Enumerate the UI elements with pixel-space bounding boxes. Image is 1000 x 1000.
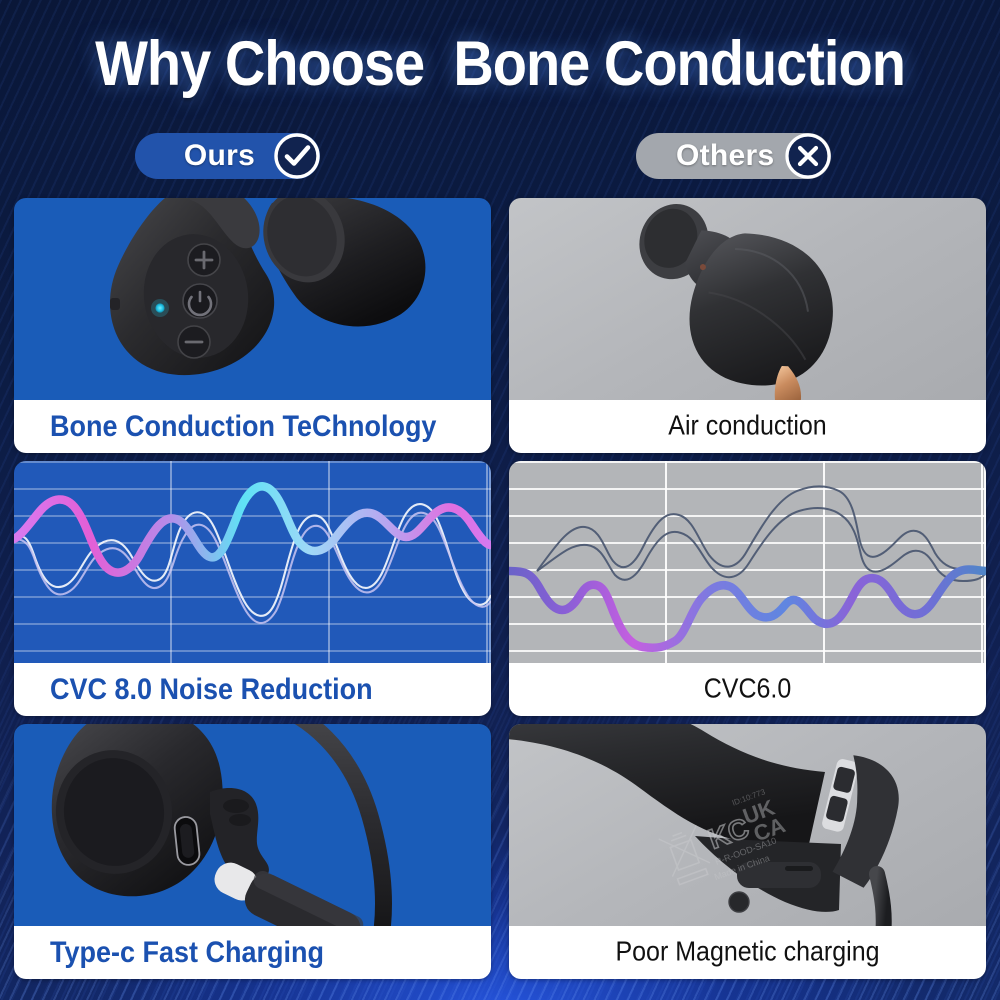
wireless-earbud-image xyxy=(509,198,986,400)
card-others-air-conduction[interactable]: Air conduction xyxy=(509,198,986,453)
comparison-row-2: CVC 8.0 Noise Reduction xyxy=(14,461,986,716)
caption-text: Bone Conduction TeChnology xyxy=(50,409,436,443)
comparison-row-1: Bone Conduction TeChnology xyxy=(14,198,986,453)
column-badge-ours: Ours xyxy=(135,133,320,179)
noisy-waveform-chart xyxy=(509,461,986,663)
check-circle-icon xyxy=(270,129,324,183)
caption-text: Poor Magnetic charging xyxy=(615,937,879,969)
card-others-magnetic-charging[interactable]: KC UK CA R-R-OOD-SA10 Made in China ID:1… xyxy=(509,724,986,979)
badge-label-others: Others xyxy=(676,139,775,173)
page-title: Why Choose Bone Conduction xyxy=(0,27,1000,100)
usb-c-charging-image xyxy=(14,724,491,926)
clean-waveform-chart xyxy=(14,461,491,663)
card-ours-type-c-charging[interactable]: Type-c Fast Charging xyxy=(14,724,491,979)
card-caption: Air conduction xyxy=(509,400,986,453)
card-caption: CVC6.0 xyxy=(509,663,986,716)
caption-text: Type-c Fast Charging xyxy=(50,935,324,969)
card-ours-noise-reduction[interactable]: CVC 8.0 Noise Reduction xyxy=(14,461,491,716)
card-caption: Bone Conduction TeChnology xyxy=(14,400,491,453)
column-badge-others: Others xyxy=(636,133,831,179)
caption-text: CVC 8.0 Noise Reduction xyxy=(50,672,373,706)
card-others-cvc6[interactable]: CVC6.0 xyxy=(509,461,986,716)
caption-text: Air conduction xyxy=(668,411,826,443)
waveform-lines xyxy=(14,461,491,663)
comparison-grid: Bone Conduction TeChnology xyxy=(14,198,986,987)
waveform-lines xyxy=(509,461,986,663)
card-caption: CVC 8.0 Noise Reduction xyxy=(14,663,491,716)
infographic-canvas: Why Choose Bone Conduction Ours Others xyxy=(0,0,1000,1000)
card-caption: Poor Magnetic charging xyxy=(509,926,986,979)
comparison-row-3: Type-c Fast Charging xyxy=(14,724,986,979)
badge-label-ours: Ours xyxy=(184,139,255,173)
bone-conduction-headphone-image xyxy=(14,198,491,400)
card-ours-technology[interactable]: Bone Conduction TeChnology xyxy=(14,198,491,453)
caption-text: CVC6.0 xyxy=(704,674,792,706)
magnetic-charging-image: KC UK CA R-R-OOD-SA10 Made in China ID:1… xyxy=(509,724,986,926)
x-circle-icon xyxy=(781,129,835,183)
card-caption: Type-c Fast Charging xyxy=(14,926,491,979)
